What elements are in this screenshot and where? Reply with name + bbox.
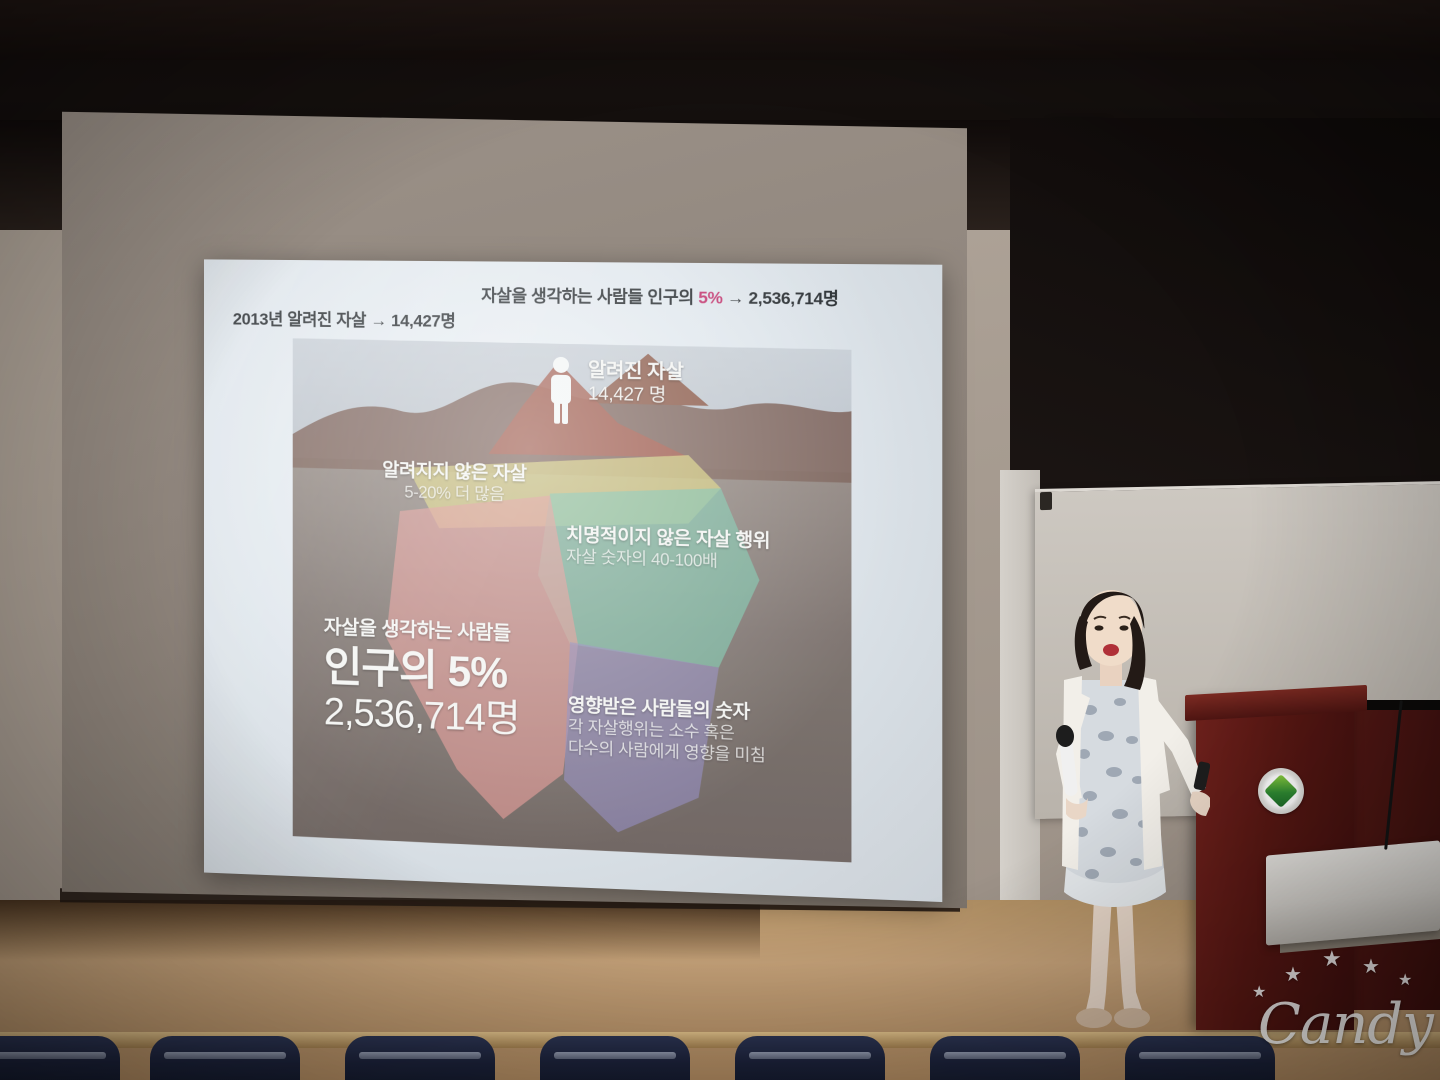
slide: 2013년 알려진 자살 → 14,427명 자살을 생각하는 사람들 인구의 … — [204, 259, 942, 902]
star-icon: ★ — [1362, 954, 1380, 979]
star-icon: ★ — [1398, 970, 1412, 990]
seat — [150, 1036, 300, 1080]
label-ideation-count: 2,536,714명 — [324, 691, 520, 741]
whiteboard-clip — [1040, 492, 1052, 510]
header-ideation-post: → 2,536,714명 — [723, 288, 839, 308]
label-nonfatal-attempts: 치명적이지 않은 자살 행위 자살 숫자의 40-100배 — [566, 524, 770, 574]
watermark-text: Candy — [1258, 992, 1433, 1057]
label-ideation: 자살을 생각하는 사람들 인구의 5% 2,536,714명 — [324, 616, 520, 742]
presenter — [1020, 540, 1210, 1050]
label-ideation-percent: 인구의 5% — [324, 644, 520, 699]
label-known-suicides: 알려진 자살 14,427 명 — [588, 358, 684, 408]
label-affected-people: 영향받은 사람들의 숫자 각 자살행위는 소수 혹은 다수의 사람에게 영향을 … — [568, 694, 765, 767]
label-known-value: 14,427 명 — [588, 383, 684, 408]
dark-right-area — [1010, 118, 1440, 508]
iceberg-infographic: 알려진 자살 14,427 명 알려지지 않은 자살 5-20% 더 많음 치명… — [293, 338, 852, 862]
label-unknown-suicides: 알려지지 않은 자살 5-20% 더 많음 — [382, 459, 526, 507]
audience-seats — [0, 1028, 1440, 1080]
seat — [0, 1036, 120, 1080]
header-line-known-suicides: 2013년 알려진 자살 → 14,427명 — [233, 305, 456, 332]
seat — [540, 1036, 690, 1080]
slide-header: 2013년 알려진 자살 → 14,427명 자살을 생각하는 사람들 인구의 … — [233, 283, 922, 314]
equipment-table — [1266, 840, 1440, 945]
photo-scene: 2013년 알려진 자살 → 14,427명 자살을 생각하는 사람들 인구의 … — [0, 0, 1440, 1080]
header-line-ideation: 자살을 생각하는 사람들 인구의 5% → 2,536,714명 — [481, 281, 838, 309]
floor-shadow — [0, 900, 760, 960]
emblem-diamond-icon — [1264, 774, 1298, 808]
label-unknown-value: 5-20% 더 많음 — [382, 482, 526, 507]
star-icon: ★ — [1284, 962, 1302, 987]
seat — [735, 1036, 885, 1080]
person-pictogram-icon — [546, 356, 576, 425]
header-ideation-percent: 5% — [698, 288, 722, 307]
seat — [345, 1036, 495, 1080]
projection-screen: 2013년 알려진 자살 → 14,427명 자살을 생각하는 사람들 인구의 … — [204, 259, 942, 902]
label-known-title: 알려진 자살 — [588, 358, 684, 385]
camera-watermark: ★ ★ ★ ★ ★ Candy — [1240, 940, 1440, 1080]
star-icon: ★ — [1322, 946, 1342, 972]
header-ideation-pre: 자살을 생각하는 사람들 인구의 — [481, 286, 698, 307]
podium-emblem-icon — [1258, 768, 1304, 814]
